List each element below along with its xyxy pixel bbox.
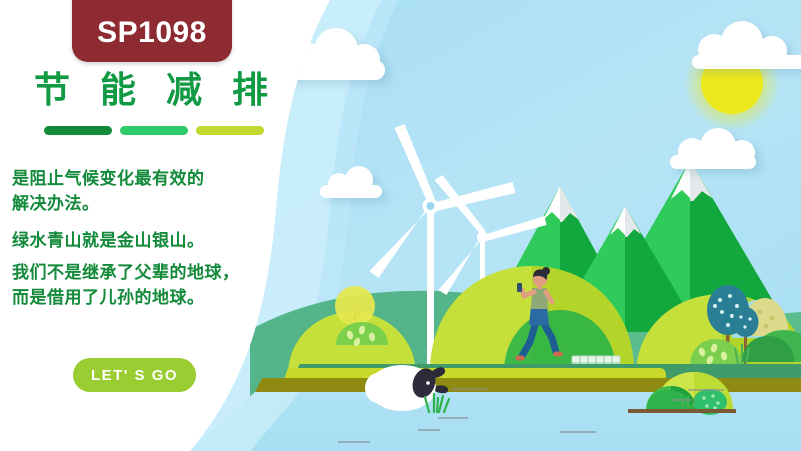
paragraph-1-line-2: 解决办法。 bbox=[12, 191, 312, 216]
code-badge-label: SP1098 bbox=[97, 12, 207, 48]
paragraph-3: 我们不是继承了父辈的地球， 而是借用了儿孙的地球。 bbox=[12, 260, 312, 310]
paragraph-3-line-1: 我们不是继承了父辈的地球， bbox=[12, 260, 312, 285]
page-title: 节 能 减 排 bbox=[34, 72, 294, 108]
bar-green bbox=[120, 126, 188, 135]
code-badge: SP1098 bbox=[72, 0, 232, 62]
paragraph-1: 是阻止气候变化最有效的 解决办法。 bbox=[12, 166, 312, 216]
poster-canvas: SP1098 节 能 减 排 是阻止气候变化最有效的 解决办法。 绿水青山就是金… bbox=[0, 0, 801, 451]
paragraph-2: 绿水青山就是金山银山。 bbox=[12, 228, 312, 253]
paragraph-3-line-2: 而是借用了儿孙的地球。 bbox=[12, 285, 312, 310]
paragraph-2-line-1: 绿水青山就是金山银山。 bbox=[12, 228, 312, 253]
bar-lime bbox=[196, 126, 264, 135]
paragraph-1-line-1: 是阻止气候变化最有效的 bbox=[12, 166, 312, 191]
accent-bars bbox=[44, 126, 264, 135]
text-panel: SP1098 节 能 减 排 是阻止气候变化最有效的 解决办法。 绿水青山就是金… bbox=[0, 0, 330, 451]
bar-dark-green bbox=[44, 126, 112, 135]
lets-go-button[interactable]: LET' S GO bbox=[73, 358, 196, 392]
